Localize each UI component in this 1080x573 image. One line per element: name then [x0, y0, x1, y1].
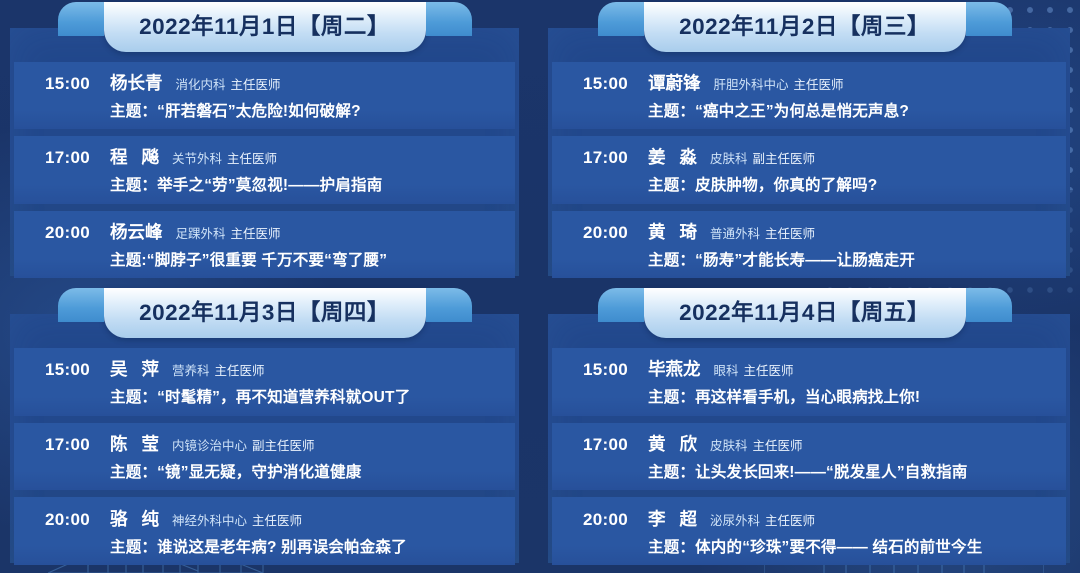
session-topic: 主题：“肠寿”才能长寿——让肠癌走开 [552, 248, 1066, 270]
session-topic: 主题：举手之“劳”莫忽视!——护肩指南 [14, 173, 515, 195]
live-schedule-poster: 2022年11月1日【周二】 15:00 杨长青 消化内科 主任医师 主题：“肝… [0, 0, 1080, 573]
session-row[interactable]: 20:00 李超 泌尿外科 主任医师 主题：体内的“珍珠”要不得—— 结石的前世… [552, 497, 1066, 565]
speaker-department: 普通外科 [710, 223, 760, 242]
session-header: 17:00 陈莹 内镜诊治中心 副主任医师 [14, 431, 515, 456]
session-topic: 主题：谁说这是老年病? 别再误会帕金森了 [14, 535, 515, 557]
session-time: 17:00 [552, 148, 628, 168]
session-topic: 主题：再这样看手机，当心眼病找上你! [552, 385, 1066, 407]
session-time: 15:00 [552, 74, 628, 94]
speaker-department: 足踝外科 [176, 223, 226, 242]
speaker-rank: 主任医师 [765, 510, 815, 529]
speaker-rank: 主任医师 [765, 223, 815, 242]
date-label: 2022年11月1日【周二】 [139, 16, 390, 39]
session-header: 20:00 骆纯 神经外科中心 主任医师 [14, 506, 515, 531]
speaker-name: 姜淼 [648, 144, 711, 169]
date-banner-wrap: 2022年11月4日【周五】 [529, 288, 1080, 340]
date-label: 2022年11月4日【周五】 [679, 302, 930, 325]
banner-ear-right-icon [966, 288, 1012, 322]
date-label: 2022年11月3日【周四】 [139, 302, 390, 325]
session-time: 20:00 [552, 510, 628, 530]
session-row[interactable]: 17:00 陈莹 内镜诊治中心 副主任医师 主题：“镜”显无疑，守护消化道健康 [14, 423, 515, 491]
session-row[interactable]: 15:00 谭蔚锋 肝胆外科中心 主任医师 主题：“癌中之王”为何总是悄无声息? [552, 62, 1066, 129]
speaker-name: 陈莹 [110, 431, 173, 456]
session-header: 17:00 姜淼 皮肤科 副主任医师 [552, 144, 1066, 169]
session-topic: 主题：“肝若磐石”太危险!如何破解? [14, 99, 515, 121]
session-row[interactable]: 20:00 骆纯 神经外科中心 主任医师 主题：谁说这是老年病? 别再误会帕金森… [14, 497, 515, 565]
banner-ear-right-icon [426, 2, 472, 36]
session-row[interactable]: 20:00 黄琦 普通外科 主任医师 主题：“肠寿”才能长寿——让肠癌走开 [552, 211, 1066, 278]
session-header: 15:00 毕燕龙 眼科 主任医师 [552, 356, 1066, 381]
day-grid: 2022年11月1日【周二】 15:00 杨长青 消化内科 主任医师 主题：“肝… [0, 0, 1080, 573]
date-banner-wrap: 2022年11月2日【周三】 [529, 2, 1080, 54]
session-header: 17:00 黄欣 皮肤科 主任医师 [552, 431, 1066, 456]
banner-ear-right-icon [966, 2, 1012, 36]
speaker-rank: 主任医师 [252, 510, 302, 529]
session-list: 15:00 吴萍 营养科 主任医师 主题：“时髦精”，再不知道营养科就OUT了 … [0, 348, 529, 565]
speaker-department: 神经外科中心 [172, 510, 247, 529]
session-header: 15:00 谭蔚锋 肝胆外科中心 主任医师 [552, 70, 1066, 95]
speaker-rank: 主任医师 [227, 148, 277, 167]
speaker-name: 杨长青 [110, 70, 163, 95]
session-header: 15:00 杨长青 消化内科 主任医师 [14, 70, 515, 95]
session-header: 20:00 黄琦 普通外科 主任医师 [552, 219, 1066, 244]
speaker-name: 程飚 [110, 144, 173, 169]
session-topic: 主题：“时髦精”，再不知道营养科就OUT了 [14, 385, 515, 407]
session-row[interactable]: 20:00 杨云峰 足踝外科 主任医师 主题:“脚脖子”很重要 千万不要“弯了腰… [14, 211, 515, 278]
session-time: 17:00 [14, 435, 90, 455]
banner-ear-left-icon [598, 2, 644, 36]
session-topic: 主题：让头发长回来!——“脱发星人”自救指南 [552, 460, 1066, 482]
speaker-rank: 副主任医师 [252, 435, 315, 454]
speaker-department: 关节外科 [172, 148, 222, 167]
session-header: 15:00 吴萍 营养科 主任医师 [14, 356, 515, 381]
speaker-name: 李超 [648, 506, 711, 531]
date-banner-wrap: 2022年11月1日【周二】 [0, 2, 529, 54]
date-label: 2022年11月2日【周三】 [679, 16, 930, 39]
day-card-4: 2022年11月4日【周五】 15:00 毕燕龙 眼科 主任医师 主题：再这样看… [529, 286, 1080, 573]
speaker-department: 皮肤科 [710, 435, 748, 454]
session-header: 17:00 程飚 关节外科 主任医师 [14, 144, 515, 169]
day-card-1: 2022年11月1日【周二】 15:00 杨长青 消化内科 主任医师 主题：“肝… [0, 0, 529, 286]
session-time: 20:00 [14, 223, 90, 243]
speaker-name: 吴萍 [110, 356, 173, 381]
banner-ear-right-icon [426, 288, 472, 322]
session-time: 15:00 [552, 360, 628, 380]
banner-ear-left-icon [58, 288, 104, 322]
session-time: 15:00 [14, 74, 90, 94]
session-list: 15:00 谭蔚锋 肝胆外科中心 主任医师 主题：“癌中之王”为何总是悄无声息?… [529, 62, 1080, 278]
speaker-department: 泌尿外科 [710, 510, 760, 529]
speaker-department: 皮肤科 [710, 148, 748, 167]
speaker-rank: 副主任医师 [753, 148, 816, 167]
speaker-rank: 主任医师 [794, 74, 844, 93]
speaker-rank: 主任医师 [231, 74, 281, 93]
date-banner: 2022年11月1日【周二】 [104, 2, 426, 52]
session-time: 17:00 [14, 148, 90, 168]
speaker-department: 眼科 [714, 360, 739, 379]
speaker-name: 谭蔚锋 [648, 70, 701, 95]
session-list: 15:00 毕燕龙 眼科 主任医师 主题：再这样看手机，当心眼病找上你! 17:… [529, 348, 1080, 565]
session-row[interactable]: 17:00 程飚 关节外科 主任医师 主题：举手之“劳”莫忽视!——护肩指南 [14, 136, 515, 203]
session-topic: 主题：“癌中之王”为何总是悄无声息? [552, 99, 1066, 121]
session-time: 15:00 [14, 360, 90, 380]
speaker-name: 毕燕龙 [648, 356, 701, 381]
speaker-rank: 主任医师 [231, 223, 281, 242]
date-banner-wrap: 2022年11月3日【周四】 [0, 288, 529, 340]
session-row[interactable]: 15:00 毕燕龙 眼科 主任医师 主题：再这样看手机，当心眼病找上你! [552, 348, 1066, 416]
date-banner: 2022年11月2日【周三】 [644, 2, 966, 52]
speaker-name: 黄欣 [648, 431, 711, 456]
speaker-department: 营养科 [172, 360, 210, 379]
session-time: 20:00 [14, 510, 90, 530]
session-header: 20:00 李超 泌尿外科 主任医师 [552, 506, 1066, 531]
speaker-name: 杨云峰 [110, 219, 163, 244]
speaker-department: 肝胆外科中心 [714, 74, 789, 93]
session-topic: 主题：“镜”显无疑，守护消化道健康 [14, 460, 515, 482]
banner-ear-left-icon [58, 2, 104, 36]
session-list: 15:00 杨长青 消化内科 主任医师 主题：“肝若磐石”太危险!如何破解? 1… [0, 62, 529, 278]
speaker-rank: 主任医师 [215, 360, 265, 379]
session-topic: 主题:“脚脖子”很重要 千万不要“弯了腰” [14, 248, 515, 270]
date-banner: 2022年11月3日【周四】 [104, 288, 426, 338]
speaker-rank: 主任医师 [744, 360, 794, 379]
speaker-rank: 主任医师 [753, 435, 803, 454]
day-card-2: 2022年11月2日【周三】 15:00 谭蔚锋 肝胆外科中心 主任医师 主题：… [529, 0, 1080, 286]
banner-ear-left-icon [598, 288, 644, 322]
day-card-3: 2022年11月3日【周四】 15:00 吴萍 营养科 主任医师 主题：“时髦精… [0, 286, 529, 573]
session-row[interactable]: 15:00 杨长青 消化内科 主任医师 主题：“肝若磐石”太危险!如何破解? [14, 62, 515, 129]
speaker-department: 内镜诊治中心 [172, 435, 247, 454]
session-topic: 主题：皮肤肿物，你真的了解吗? [552, 173, 1066, 195]
speaker-name: 黄琦 [648, 219, 711, 244]
session-row[interactable]: 17:00 黄欣 皮肤科 主任医师 主题：让头发长回来!——“脱发星人”自救指南 [552, 423, 1066, 491]
session-topic: 主题：体内的“珍珠”要不得—— 结石的前世今生 [552, 535, 1066, 557]
session-time: 17:00 [552, 435, 628, 455]
session-time: 20:00 [552, 223, 628, 243]
speaker-name: 骆纯 [110, 506, 173, 531]
date-banner: 2022年11月4日【周五】 [644, 288, 966, 338]
session-header: 20:00 杨云峰 足踝外科 主任医师 [14, 219, 515, 244]
session-row[interactable]: 15:00 吴萍 营养科 主任医师 主题：“时髦精”，再不知道营养科就OUT了 [14, 348, 515, 416]
session-row[interactable]: 17:00 姜淼 皮肤科 副主任医师 主题：皮肤肿物，你真的了解吗? [552, 136, 1066, 203]
speaker-department: 消化内科 [176, 74, 226, 93]
